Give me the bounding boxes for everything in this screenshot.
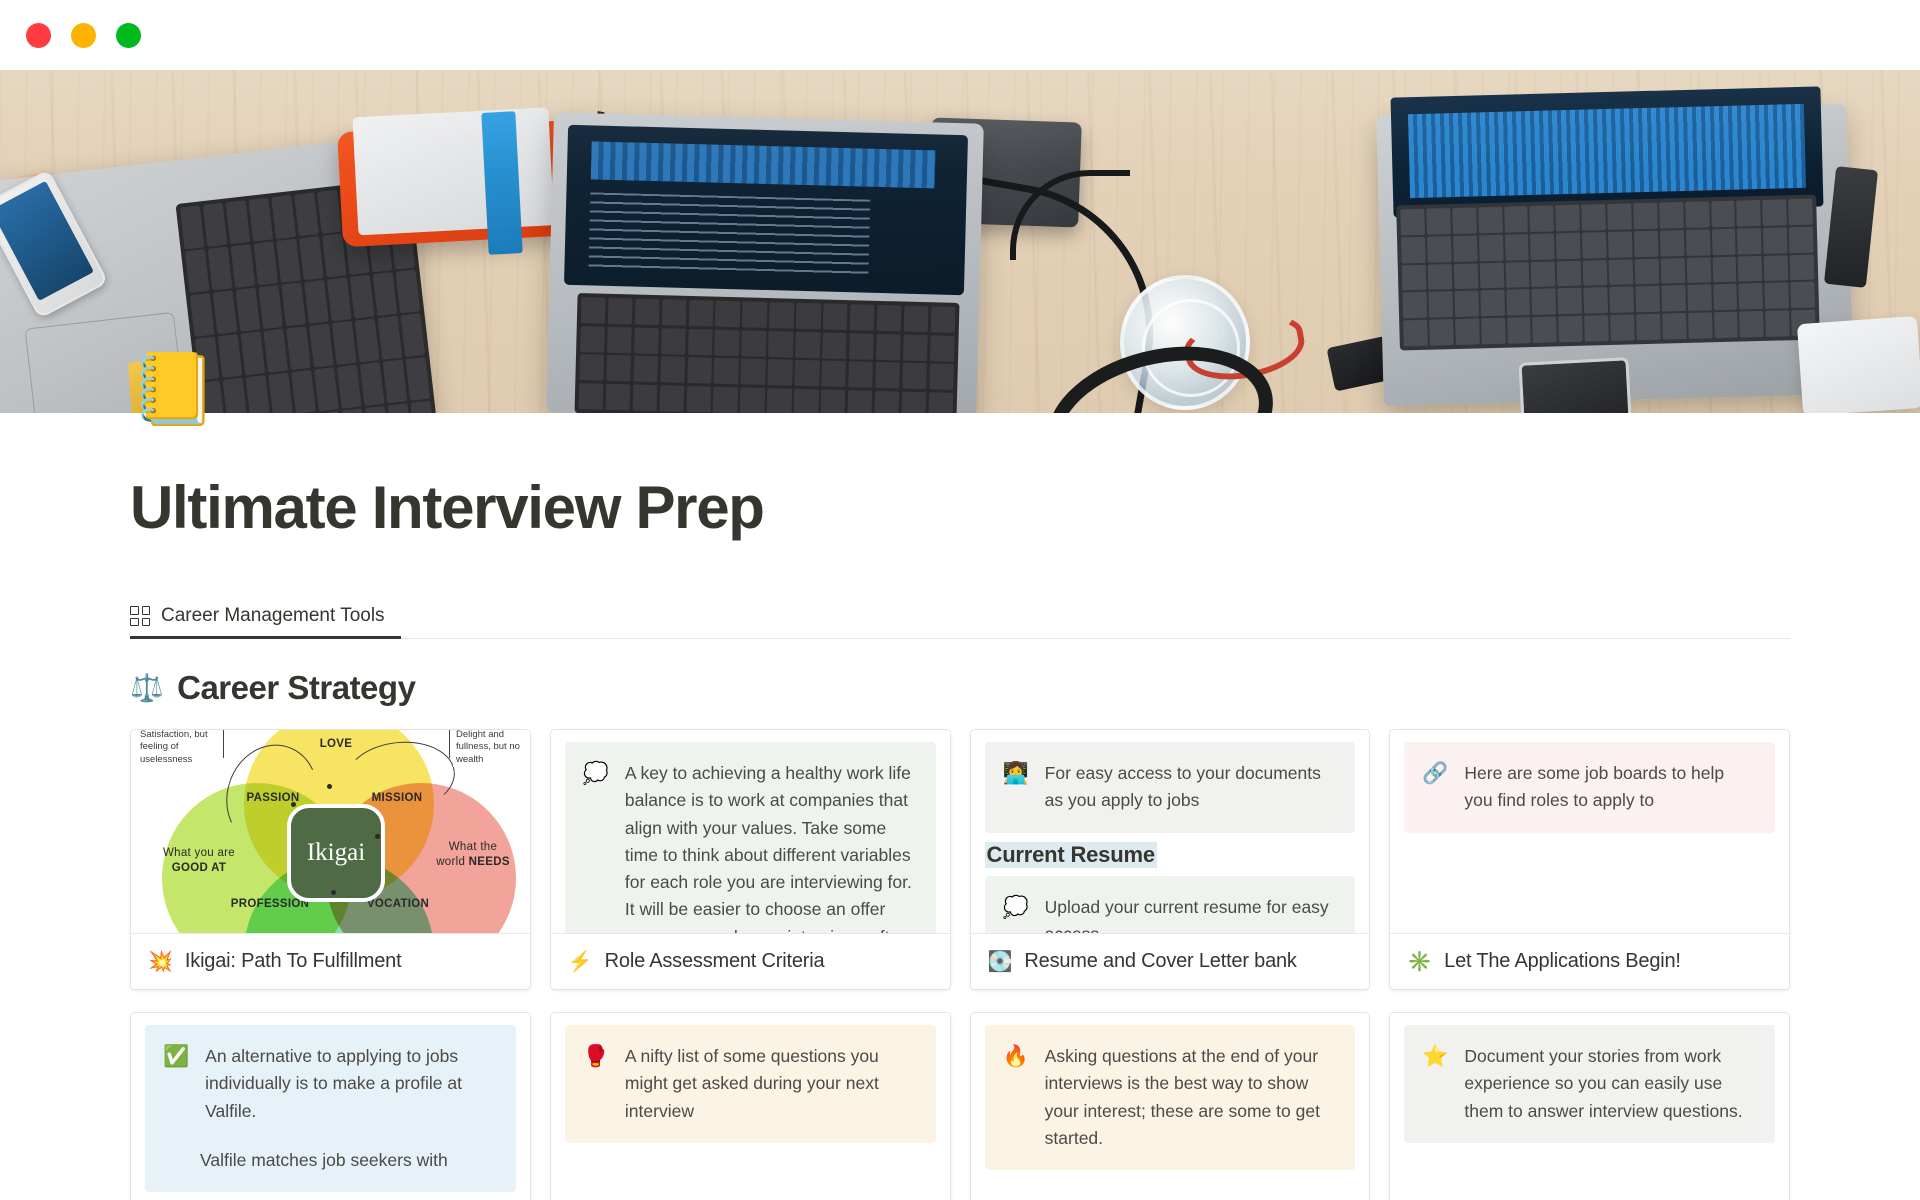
high-voltage-icon: ⚡ [568,952,593,972]
ikigai-label-needs: What theworld NEEDS [427,840,519,870]
minidisc-icon: 💽 [988,952,1013,972]
laptop-center-screen [564,125,968,295]
collision-icon: 💥 [148,952,173,972]
grid-icon [130,606,150,626]
maximize-window-button[interactable] [116,23,141,48]
woman-technologist-icon: 👩‍💻 [1003,760,1029,788]
eight-spoked-asterisk-icon: ✳️ [1407,952,1432,972]
callout-gray: ⭐ Document your stories from work experi… [1404,1025,1775,1143]
card-role-assessment-criteria[interactable]: 💭 A key to achieving a healthy work life… [550,729,951,990]
ikigai-dot-4 [331,890,336,895]
ikigai-label-good-at: What you are GOOD AT [153,846,245,876]
callout-text: A nifty list of some questions you might… [625,1043,916,1125]
card-preview: 🔗 Here are some job boards to help you f… [1390,730,1789,933]
callout-cream: 🥊 A nifty list of some questions you mig… [565,1025,936,1143]
callout-text-2: Valfile matches job seekers with [163,1147,448,1174]
laptop-right-keyboard [1396,195,1820,351]
callout-text: A key to achieving a healthy work life b… [625,760,916,933]
card-preview: 🥊 A nifty list of some questions you mig… [551,1013,950,1200]
callout-pink: 🔗 Here are some job boards to help you f… [1404,742,1775,833]
section-heading: ⚖️ Career Strategy [130,669,1920,707]
callout-text: Asking questions at the end of your inte… [1045,1043,1336,1152]
card-title: Let The Applications Begin! [1444,950,1681,973]
callout-text: An alternative to applying to jobs indiv… [205,1043,496,1125]
page-content: Ultimate Interview Prep Career Managemen… [0,475,1920,1200]
thought-balloon-icon: 💭 [1003,894,1029,922]
card-footer: 💥 Ikigai: Path To Fulfillment [131,933,530,989]
card-resume-cover-letter-bank[interactable]: 👩‍💻 For easy access to your documents as… [970,729,1371,990]
card-preview-image: LOVE What you are GOOD AT What theworld … [131,730,530,933]
card-ikigai[interactable]: LOVE What you are GOOD AT What theworld … [130,729,531,990]
sub-heading: Current Resume [985,842,1157,868]
thought-balloon-icon: 💭 [583,760,609,788]
card-grid: LOVE What you are GOOD AT What theworld … [130,729,1790,1200]
tab-bar: Career Management Tools [130,605,1790,639]
ikigai-dot-3 [375,834,380,839]
balance-scale-icon: ⚖️ [130,675,163,702]
ikigai-note-left: Satisfaction, but feeling of uselessness [137,730,221,767]
ikigai-bracket-right [449,730,450,758]
ikigai-dot-2 [327,784,332,789]
card-let-the-applications-begin[interactable]: 🔗 Here are some job boards to help you f… [1389,729,1790,990]
smartphone-right [1518,357,1631,413]
app-window: 📒 Ultimate Interview Prep Career Managem… [0,0,1920,1200]
callout-blue: ✅ An alternative to applying to jobs ind… [145,1025,516,1192]
callout-cream: 🔥 Asking questions at the end of your in… [985,1025,1356,1170]
page-icon[interactable]: 📒 [130,350,208,428]
boxing-glove-icon: 🥊 [583,1043,609,1071]
callout-green: 💭 Upload your current resume for easy ac… [985,876,1356,933]
cover-photo-backdrop [0,70,1920,413]
notebook-icon[interactable]: 📒 [130,350,208,428]
card-preview: ⭐ Document your stories from work experi… [1390,1013,1789,1200]
card-footer: ⚡ Role Assessment Criteria [551,933,950,989]
ikigai-diagram: LOVE What you are GOOD AT What theworld … [131,730,530,933]
section-title: Career Strategy [177,669,415,707]
callout-text: For easy access to your documents as you… [1045,760,1336,815]
callout-gray: 👩‍💻 For easy access to your documents as… [985,742,1356,833]
check-mark-button-icon: ✅ [163,1043,189,1071]
tab-career-management-tools[interactable]: Career Management Tools [130,605,407,638]
traffic-lights [26,23,141,48]
minimize-window-button[interactable] [71,23,96,48]
page-title: Ultimate Interview Prep [130,475,1920,541]
router-white [1797,316,1920,413]
callout-green: 💭 A key to achieving a healthy work life… [565,742,936,933]
callout-text: Upload your current resume for easy acce… [1045,894,1336,933]
card-preview: 👩‍💻 For easy access to your documents as… [971,730,1370,933]
tab-label: Career Management Tools [161,605,385,627]
star-icon: ⭐ [1422,1043,1448,1071]
card-title: Resume and Cover Letter bank [1024,950,1296,973]
card-title: Role Assessment Criteria [605,950,825,973]
ikigai-note-right: Delight and fullness, but no wealth [453,730,530,767]
card-footer: 💽 Resume and Cover Letter bank [971,933,1370,989]
card-story-bank[interactable]: ⭐ Document your stories from work experi… [1389,1012,1790,1200]
callout-text: Here are some job boards to help you fin… [1464,760,1755,815]
page-cover-image[interactable] [0,70,1920,413]
card-preview: ✅ An alternative to applying to jobs ind… [131,1013,530,1200]
ikigai-dot-1 [291,802,296,807]
ikigai-label-love: LOVE [291,738,381,750]
window-titlebar [0,0,1920,70]
card-questions-to-ask[interactable]: 🔥 Asking questions at the end of your in… [970,1012,1371,1200]
ikigai-bracket-left [223,730,224,758]
fire-icon: 🔥 [1003,1043,1029,1071]
link-icon: 🔗 [1422,760,1448,788]
card-preview: 🔥 Asking questions at the end of your in… [971,1013,1370,1200]
external-drive-orange [337,120,583,247]
card-footer: ✳️ Let The Applications Begin! [1390,933,1789,989]
callout-text: Document your stories from work experien… [1464,1043,1755,1125]
card-title: Ikigai: Path To Fulfillment [185,950,402,973]
card-preview: 💭 A key to achieving a healthy work life… [551,730,950,933]
close-window-button[interactable] [26,23,51,48]
laptop-center-keyboard [574,293,959,413]
card-valfile[interactable]: ✅ An alternative to applying to jobs ind… [130,1012,531,1200]
card-interview-questions[interactable]: 🥊 A nifty list of some questions you mig… [550,1012,951,1200]
